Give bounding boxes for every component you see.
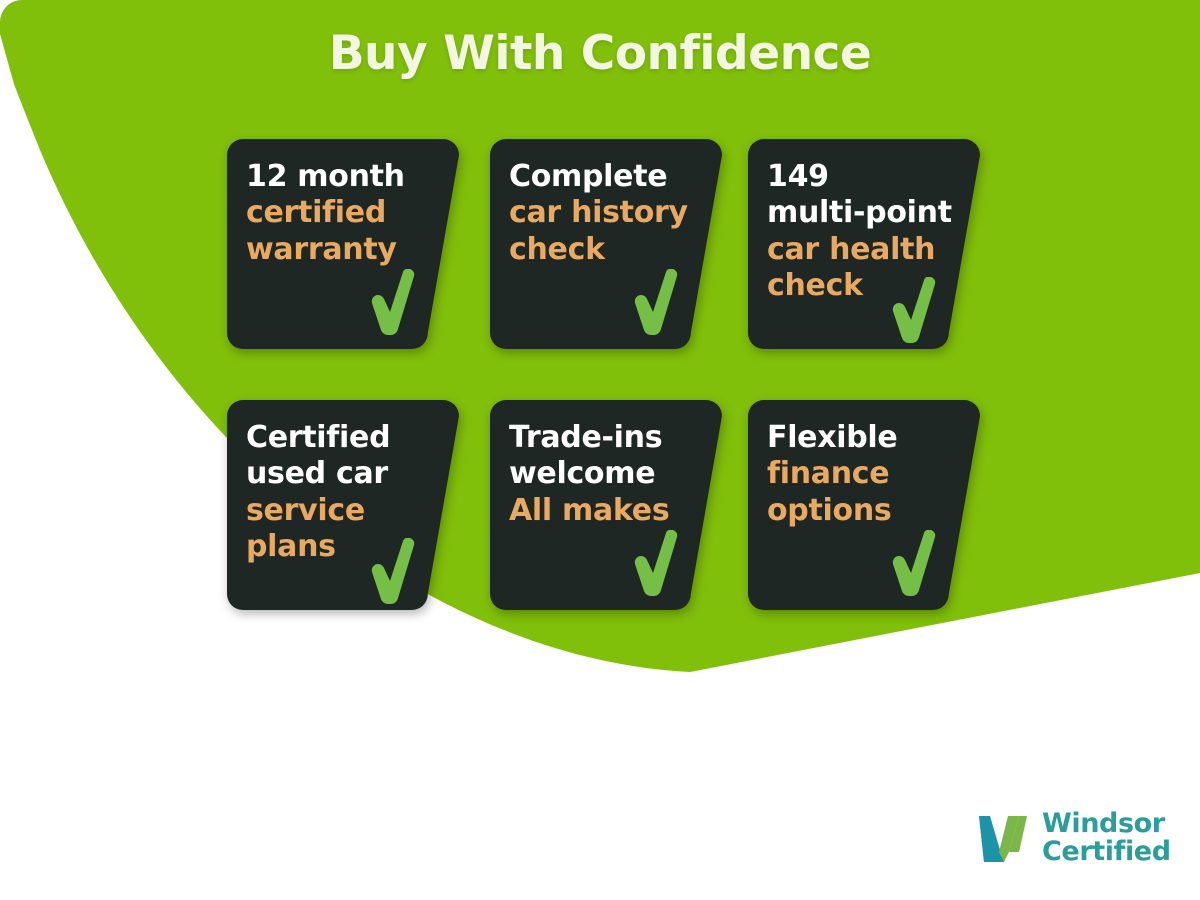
card-line: welcome bbox=[509, 456, 695, 492]
card-text: Flexiblefinanceoptions bbox=[767, 420, 953, 529]
benefit-card-149-multi-point-car-health-check: 149multi-pointcar healthcheck bbox=[748, 139, 980, 349]
card-line: 149 bbox=[767, 159, 953, 195]
check-icon bbox=[888, 530, 940, 596]
benefit-card-complete-car-history-check: Completecar historycheck bbox=[490, 139, 722, 349]
card-line: check bbox=[509, 232, 695, 268]
card-line: options bbox=[767, 493, 953, 529]
check-icon bbox=[630, 269, 682, 335]
card-line: All makes bbox=[509, 493, 695, 529]
card-line: multi-point bbox=[767, 195, 953, 231]
card-line: service bbox=[246, 493, 432, 529]
card-text: 12 monthcertifiedwarranty bbox=[246, 159, 432, 268]
check-icon bbox=[367, 538, 419, 604]
benefit-card-trade-ins-welcome-all-makes: Trade-inswelcomeAll makes bbox=[490, 400, 722, 610]
check-icon bbox=[367, 269, 419, 335]
windsor-w-icon bbox=[975, 810, 1033, 866]
page-title: Buy With Confidence bbox=[0, 26, 1200, 81]
card-line: car health bbox=[767, 232, 953, 268]
card-line: warranty bbox=[246, 232, 432, 268]
card-line: Certified bbox=[246, 420, 432, 456]
logo-line-2: Certified bbox=[1042, 838, 1171, 866]
card-line: Flexible bbox=[767, 420, 953, 456]
benefit-card-12-month-certified-warranty: 12 monthcertifiedwarranty bbox=[227, 139, 459, 349]
check-icon bbox=[630, 530, 682, 596]
benefit-card-certified-used-car-service-plans: Certifiedused carserviceplans bbox=[227, 400, 459, 610]
card-line: used car bbox=[246, 456, 432, 492]
card-line: 12 month bbox=[246, 159, 432, 195]
benefit-card-flexible-finance-options: Flexiblefinanceoptions bbox=[748, 400, 980, 610]
logo-line-1: Windsor bbox=[1042, 810, 1171, 838]
card-line: certified bbox=[246, 195, 432, 231]
card-line: finance bbox=[767, 456, 953, 492]
promo-graphic: Buy With Confidence 12 monthcertifiedwar… bbox=[0, 0, 1200, 900]
card-line: car history bbox=[509, 195, 695, 231]
card-line: Complete bbox=[509, 159, 695, 195]
card-text: Completecar historycheck bbox=[509, 159, 695, 268]
brand-logo: Windsor Certified bbox=[975, 810, 1171, 867]
check-icon bbox=[888, 277, 940, 343]
card-text: Trade-inswelcomeAll makes bbox=[509, 420, 695, 529]
logo-wordmark: Windsor Certified bbox=[1042, 810, 1171, 867]
card-line: Trade-ins bbox=[509, 420, 695, 456]
